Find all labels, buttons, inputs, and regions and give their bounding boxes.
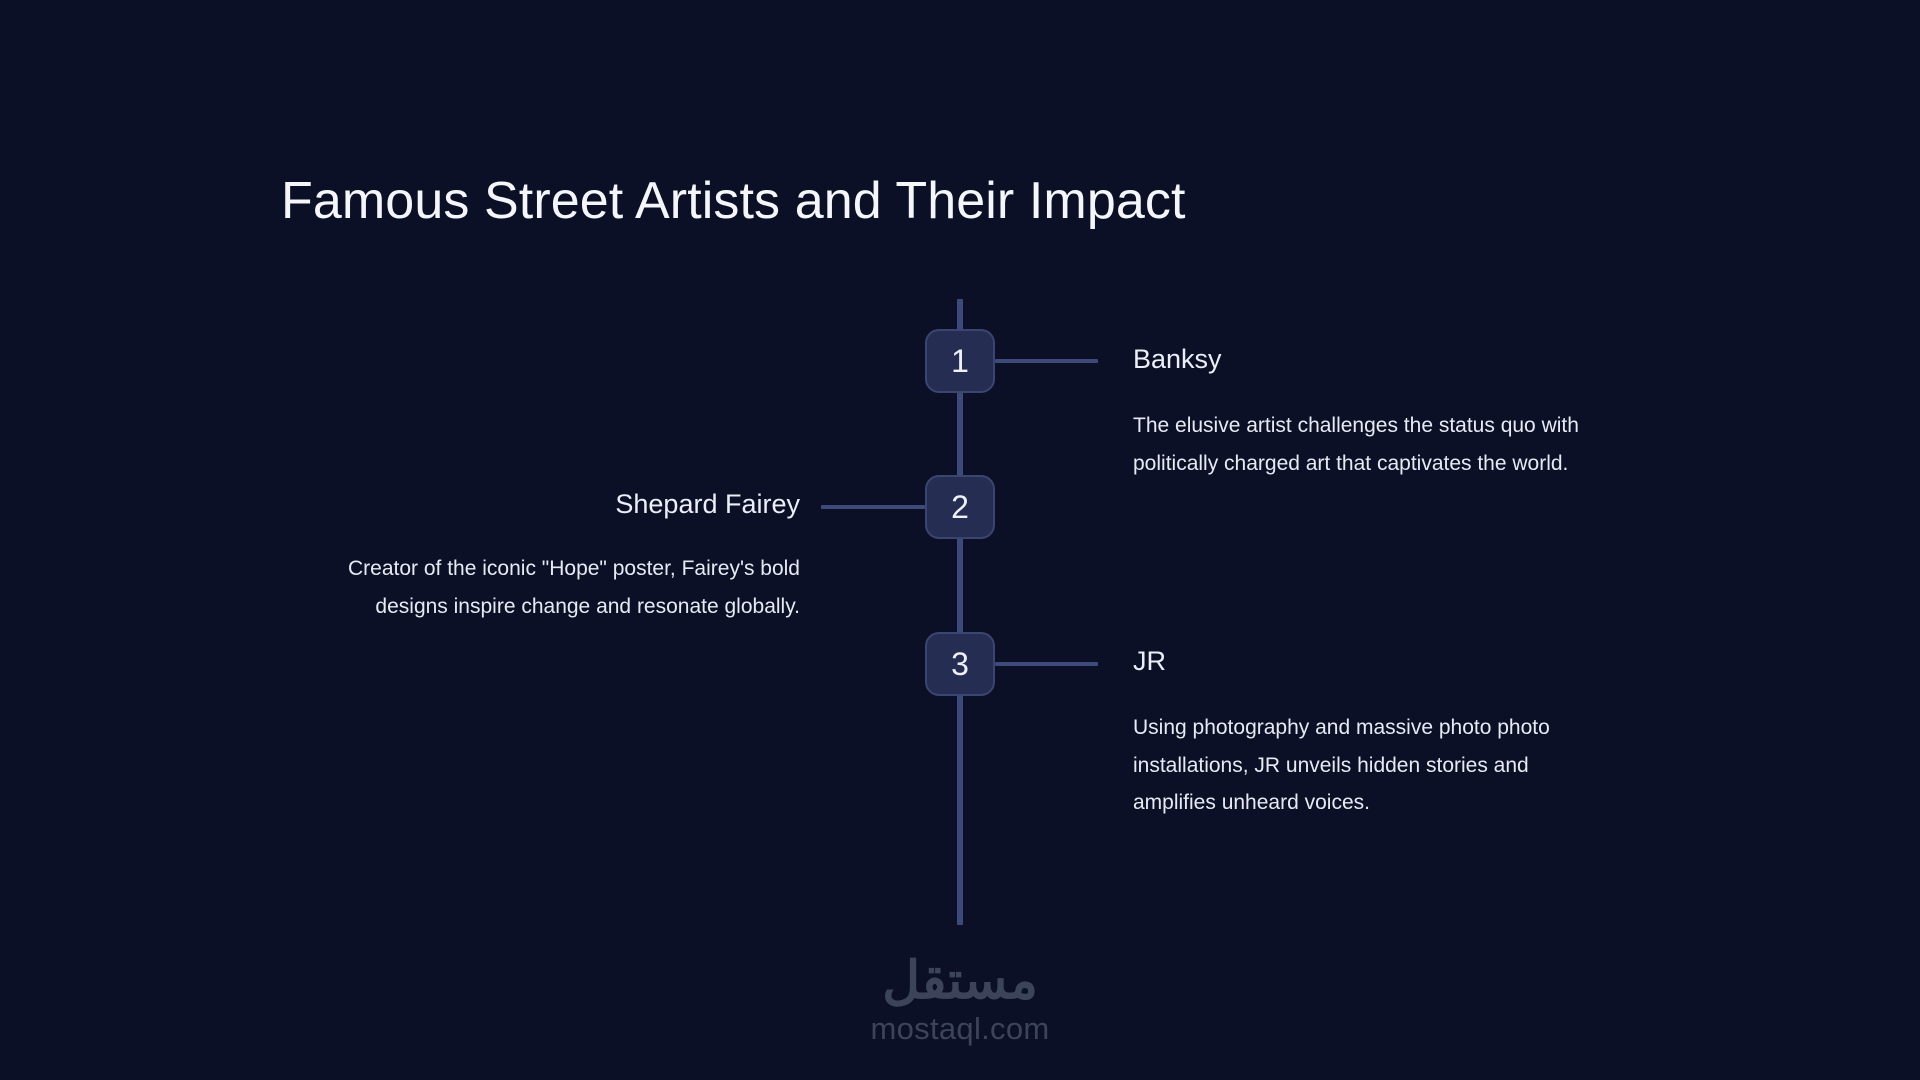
timeline-marker-3[interactable]: 3 [925,632,995,696]
timeline-marker-1[interactable]: 1 [925,329,995,393]
timeline-item-banksy: Banksy The elusive artist challenges the… [1133,343,1613,482]
page-title: Famous Street Artists and Their Impact [281,173,1186,230]
timeline-marker-2[interactable]: 2 [925,475,995,539]
timeline-item-title: JR [1133,645,1613,677]
mostaql-watermark: مستقل mostaql.com [870,955,1049,1044]
mostaql-domain-text: mostaql.com [870,1013,1049,1044]
timeline-connector-3 [995,662,1098,666]
timeline-item-jr: JR Using photography and massive photo p… [1133,645,1613,822]
timeline-item-description: The elusive artist challenges the status… [1133,407,1613,482]
timeline-connector-2 [821,505,925,509]
timeline-item-shepard-fairey: Shepard Fairey Creator of the iconic "Ho… [320,488,800,625]
timeline-item-description: Creator of the iconic "Hope" poster, Fai… [320,550,800,625]
timeline-connector-1 [995,359,1098,363]
timeline-item-title: Shepard Fairey [320,488,800,520]
timeline-item-description: Using photography and massive photo phot… [1133,709,1613,821]
timeline-item-title: Banksy [1133,343,1613,375]
mostaql-arabic-logo: مستقل [882,955,1038,1007]
